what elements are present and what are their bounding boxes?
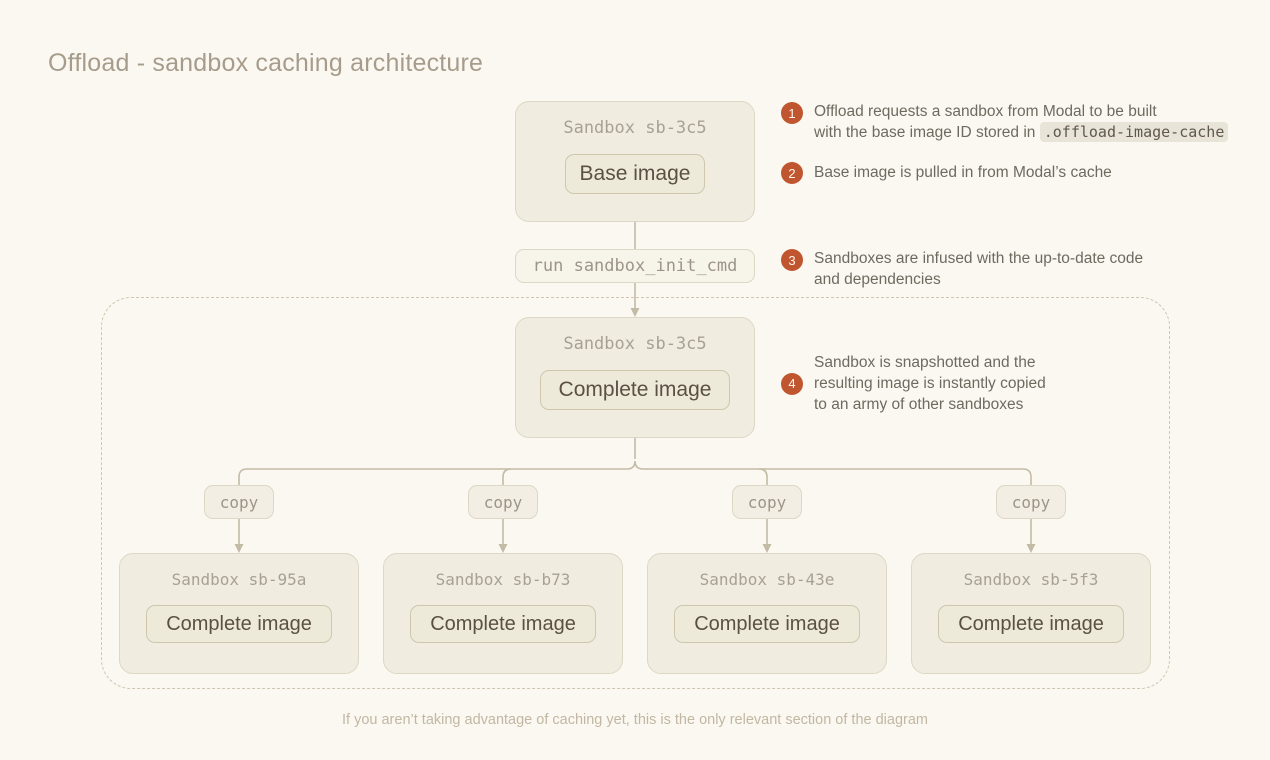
complete-image-chip: Complete image [938, 605, 1124, 643]
step-text: Offload requests a sandbox from Modal to… [814, 101, 1228, 143]
sandbox-card-middle: Sandbox sb-3c5 Complete image [515, 317, 755, 438]
step-number-badge: 3 [781, 249, 803, 271]
sandbox-label: Sandbox sb-5f3 [964, 570, 1099, 589]
step-line: Sandbox is snapshotted and the [814, 354, 1035, 371]
step-line: and dependencies [814, 271, 941, 288]
sandbox-card-leaf: Sandbox sb-95a Complete image [119, 553, 359, 674]
step-item-1: 1 Offload requests a sandbox from Modal … [781, 101, 1228, 143]
step-number-badge: 4 [781, 373, 803, 395]
base-image-chip: Base image [565, 154, 705, 194]
sandbox-label: Sandbox sb-95a [172, 570, 307, 589]
complete-image-chip: Complete image [146, 605, 332, 643]
step-item-2: 2 Base image is pulled in from Modal’s c… [781, 162, 1112, 184]
step-text: Sandbox is snapshotted and the resulting… [814, 352, 1046, 415]
step-line: with the base image ID stored in [814, 124, 1035, 141]
copy-pill: copy [732, 485, 802, 519]
footer-note: If you aren’t taking advantage of cachin… [0, 712, 1270, 728]
step-line: Offload requests a sandbox from Modal to… [814, 103, 1157, 120]
step-text: Sandboxes are infused with the up-to-dat… [814, 248, 1143, 290]
step-line: Sandboxes are infused with the up-to-dat… [814, 250, 1143, 267]
step-text: Base image is pulled in from Modal’s cac… [814, 162, 1112, 183]
copy-pill: copy [996, 485, 1066, 519]
sandbox-label: Sandbox sb-43e [700, 570, 835, 589]
sandbox-label: Sandbox sb-3c5 [563, 334, 706, 354]
step-line: Base image is pulled in from Modal’s cac… [814, 164, 1112, 181]
complete-image-chip: Complete image [410, 605, 596, 643]
step-item-4: 4 Sandbox is snapshotted and the resulti… [781, 352, 1046, 415]
sandbox-card-leaf: Sandbox sb-43e Complete image [647, 553, 887, 674]
step-line: to an army of other sandboxes [814, 396, 1023, 413]
step-number-badge: 1 [781, 102, 803, 124]
sandbox-card-leaf: Sandbox sb-5f3 Complete image [911, 553, 1151, 674]
step-line: resulting image is instantly copied [814, 375, 1046, 392]
step-item-3: 3 Sandboxes are infused with the up-to-d… [781, 248, 1143, 290]
copy-pill: copy [468, 485, 538, 519]
complete-image-chip: Complete image [540, 370, 730, 410]
page-title: Offload - sandbox caching architecture [48, 49, 483, 78]
init-command-pill: run sandbox_init_cmd [515, 249, 755, 283]
sandbox-card-leaf: Sandbox sb-b73 Complete image [383, 553, 623, 674]
step-number-badge: 2 [781, 162, 803, 184]
sandbox-label: Sandbox sb-3c5 [563, 118, 706, 138]
offload-image-cache-code-chip: .offload-image-cache [1040, 122, 1229, 142]
sandbox-card-top: Sandbox sb-3c5 Base image [515, 101, 755, 222]
copy-pill: copy [204, 485, 274, 519]
sandbox-label: Sandbox sb-b73 [436, 570, 571, 589]
complete-image-chip: Complete image [674, 605, 860, 643]
